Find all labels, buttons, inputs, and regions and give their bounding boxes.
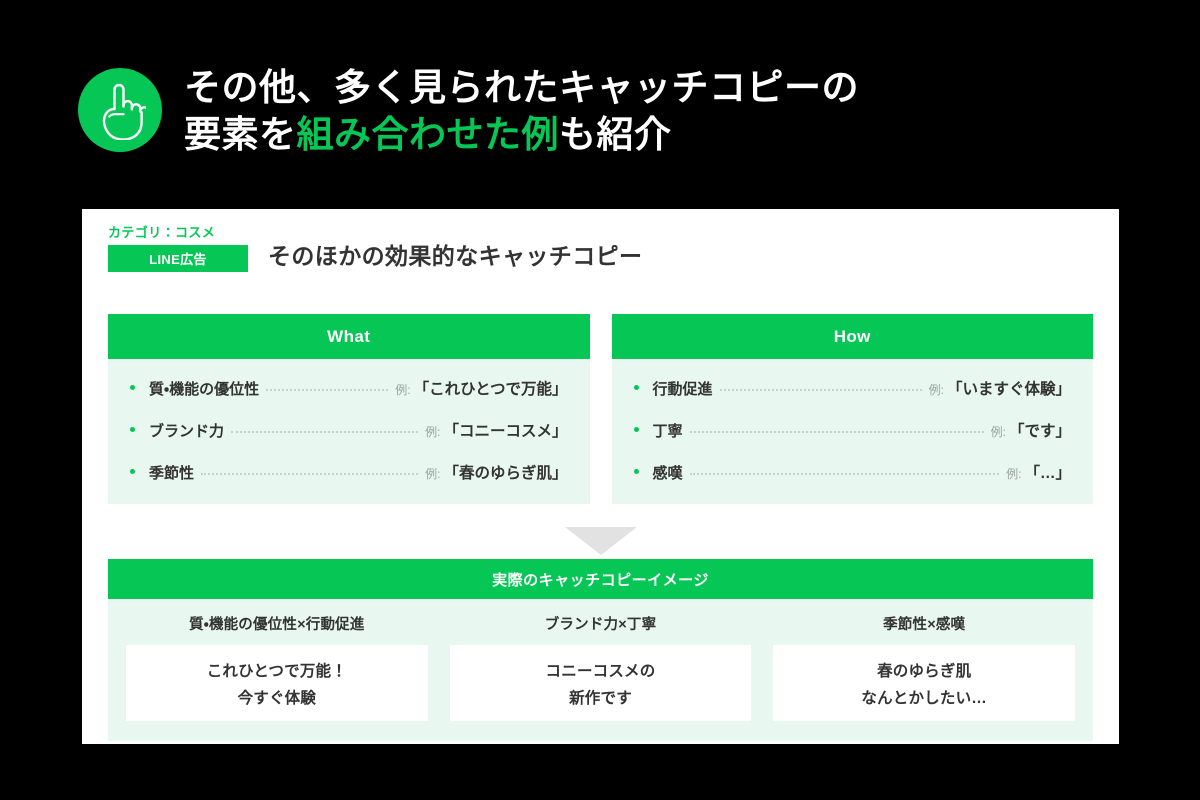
dotted-leader <box>720 389 922 391</box>
combo-box: これひとつで万能！ 今すぐ体験 <box>126 645 428 721</box>
example-prefix: 例: <box>395 381 410 398</box>
combo-line-2: 新作です <box>569 686 632 708</box>
panel-how: How 行動促進 例: 「いますぐ体験」 丁寧 例: 「です」 <box>612 314 1094 504</box>
list-item-label: 行動促進 <box>653 378 713 399</box>
example-prefix: 例: <box>425 465 440 482</box>
example-value: 「コニーコスメ」 <box>443 419 567 441</box>
combo-line-2: 今すぐ体験 <box>238 686 317 708</box>
example-value: 「です」 <box>1009 419 1071 441</box>
result-heading: 実際のキャッチコピーイメージ <box>108 559 1093 599</box>
bullet-icon <box>634 427 639 432</box>
slide-header: その他、多く見られたキャッチコピーの 要素を組み合わせた例も紹介 <box>78 62 1138 182</box>
list-item-label: 感嘆 <box>653 462 683 483</box>
example-prefix: 例: <box>425 423 440 440</box>
panels-row: What 質・機能の優位性 例: 「これひとつで万能」 ブランド力 例: <box>108 314 1093 504</box>
pointing-hand-icon <box>78 68 162 152</box>
combo-line-1: 春のゆらぎ肌 <box>877 659 971 681</box>
dotted-leader <box>266 389 388 391</box>
page-title-highlight: 組み合わせた例 <box>297 114 560 155</box>
bullet-icon <box>130 385 135 390</box>
bullet-icon <box>634 469 639 474</box>
list-item-label: ブランド力 <box>149 420 224 441</box>
list-item-label: 質・機能の優位性 <box>149 378 259 399</box>
panel-how-body: 行動促進 例: 「いますぐ体験」 丁寧 例: 「です」 感嘆 <box>612 359 1094 504</box>
down-arrow-icon <box>565 527 637 555</box>
example-prefix: 例: <box>929 381 944 398</box>
slide-canvas: その他、多く見られたキャッチコピーの 要素を組み合わせた例も紹介 カテゴリ：コス… <box>0 0 1200 800</box>
result-body: 質・機能の優位性×行動促進 これひとつで万能！ 今すぐ体験 ブランド力×丁寧 コ… <box>108 599 1093 741</box>
result-panel: 実際のキャッチコピーイメージ 質・機能の優位性×行動促進 これひとつで万能！ 今… <box>108 559 1093 741</box>
card-title: そのほかの効果的なキャッチコピー <box>268 237 642 272</box>
example-value: 「…」 <box>1024 461 1071 483</box>
combo-box: コニーコスメの 新作です <box>450 645 752 721</box>
category-label: カテゴリ：コスメ <box>108 222 248 241</box>
page-title-suffix: も紹介 <box>559 114 672 155</box>
panel-what-body: 質・機能の優位性 例: 「これひとつで万能」 ブランド力 例: 「コニーコスメ」 <box>108 359 590 504</box>
combo-label: ブランド力×丁寧 <box>450 613 752 634</box>
channel-badge: LINE広告 <box>108 245 248 272</box>
combo-item: 季節性×感嘆 春のゆらぎ肌 なんとかしたい… <box>773 613 1075 721</box>
category-block: カテゴリ：コスメ LINE広告 <box>108 222 248 272</box>
panel-how-heading: How <box>612 314 1094 359</box>
example-value: 「春のゆらぎ肌」 <box>443 461 567 483</box>
combo-item: ブランド力×丁寧 コニーコスメの 新作です <box>450 613 752 721</box>
combo-item: 質・機能の優位性×行動促進 これひとつで万能！ 今すぐ体験 <box>126 613 428 721</box>
list-item: 行動促進 例: 「いますぐ体験」 <box>634 377 1072 419</box>
panel-what-heading: What <box>108 314 590 359</box>
dotted-leader <box>690 473 1000 475</box>
list-item: ブランド力 例: 「コニーコスメ」 <box>130 419 568 461</box>
combo-label: 質・機能の優位性×行動促進 <box>126 613 428 634</box>
combo-label: 季節性×感嘆 <box>773 613 1075 634</box>
bullet-icon <box>130 427 135 432</box>
bullet-icon <box>130 469 135 474</box>
example-prefix: 例: <box>1006 465 1021 482</box>
card-header: カテゴリ：コスメ LINE広告 そのほかの効果的なキャッチコピー <box>108 222 642 272</box>
list-item: 丁寧 例: 「です」 <box>634 419 1072 461</box>
list-item-label: 季節性 <box>149 462 194 483</box>
combo-line-1: コニーコスメの <box>546 659 656 681</box>
combo-line-2: なんとかしたい… <box>861 686 987 708</box>
list-item: 季節性 例: 「春のゆらぎ肌」 <box>130 461 568 503</box>
dotted-leader <box>231 431 418 433</box>
page-title: その他、多く見られたキャッチコピーの 要素を組み合わせた例も紹介 <box>184 62 859 159</box>
bullet-icon <box>634 385 639 390</box>
list-item: 質・機能の優位性 例: 「これひとつで万能」 <box>130 377 568 419</box>
dotted-leader <box>690 431 984 433</box>
combo-box: 春のゆらぎ肌 なんとかしたい… <box>773 645 1075 721</box>
list-item-label: 丁寧 <box>653 420 683 441</box>
example-prefix: 例: <box>991 423 1006 440</box>
dotted-leader <box>201 473 418 475</box>
panel-what: What 質・機能の優位性 例: 「これひとつで万能」 ブランド力 例: <box>108 314 590 504</box>
content-card: カテゴリ：コスメ LINE広告 そのほかの効果的なキャッチコピー What 質・… <box>82 209 1119 744</box>
combo-line-1: これひとつで万能！ <box>207 659 347 681</box>
example-value: 「これひとつで万能」 <box>414 377 568 399</box>
example-value: 「いますぐ体験」 <box>947 377 1071 399</box>
list-item: 感嘆 例: 「…」 <box>634 461 1072 503</box>
